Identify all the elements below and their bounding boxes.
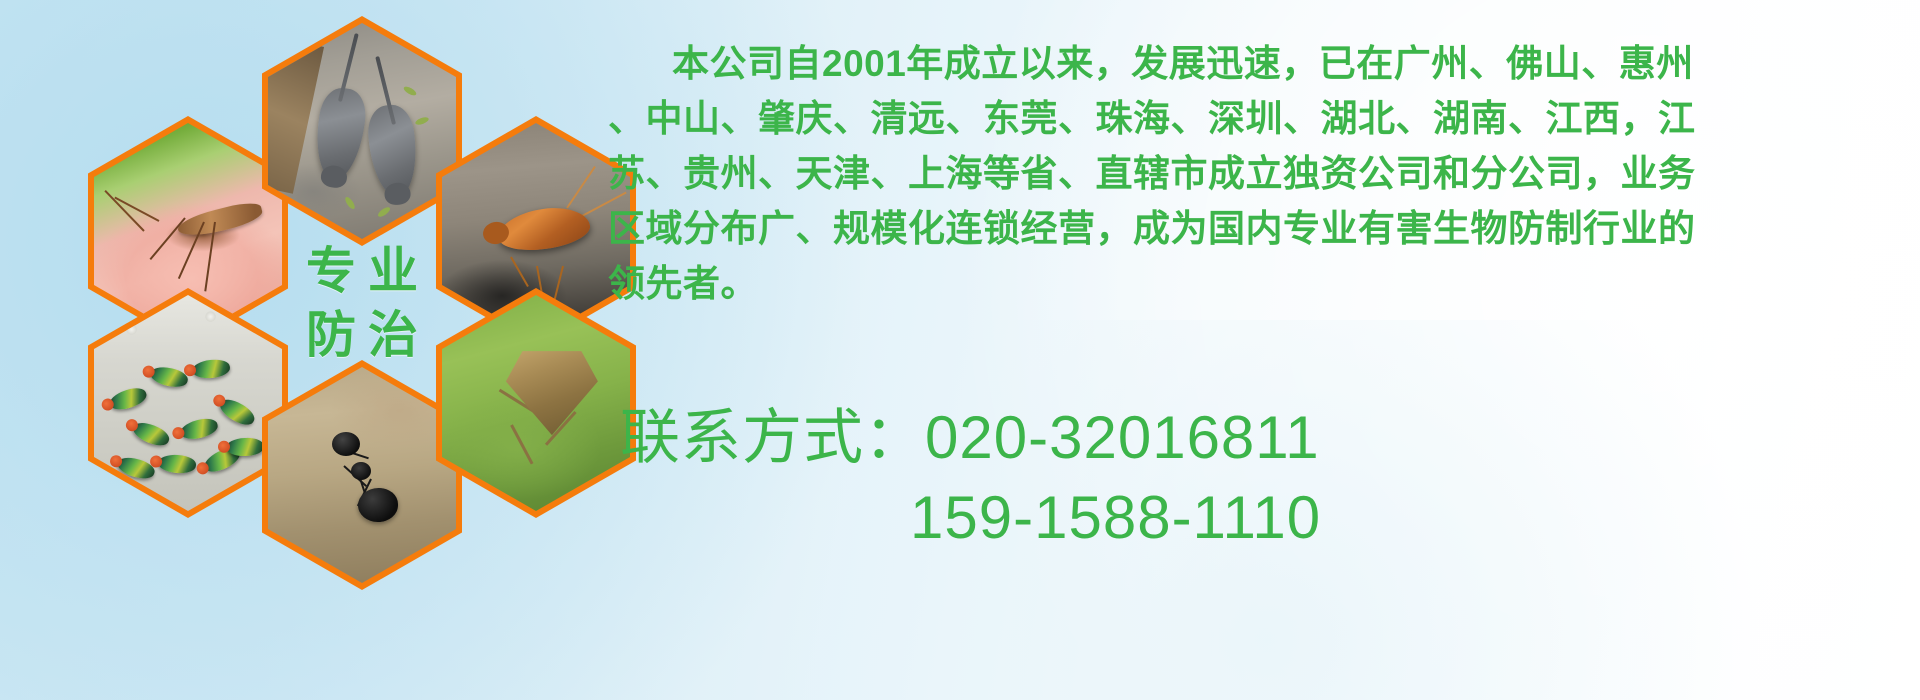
- ant-thorax-icon: [351, 462, 371, 480]
- fly-icon: [130, 418, 172, 449]
- contact-phone-secondary[interactable]: 159-1588-1110: [620, 478, 1920, 558]
- cockroach-leg-icon: [510, 256, 529, 286]
- fly-icon: [107, 385, 149, 414]
- hex-cell-flies[interactable]: [88, 288, 288, 518]
- copy-line-3: 苏、贵州、天津、上海等省、直辖市成立独资公司和分公司，业务: [608, 146, 1908, 201]
- copy-line-1: 本公司自2001年成立以来，发展迅速，已在广州、佛山、惠州: [608, 36, 1908, 91]
- fly-icon: [157, 454, 196, 475]
- copy-line-2: 、中山、肇庆、清远、东莞、珠海、深圳、湖北、湖南、江西，江: [608, 91, 1908, 146]
- fly-icon: [191, 358, 231, 380]
- stinkbug-body-icon: [506, 351, 598, 435]
- rat-icon: [311, 85, 369, 183]
- promo-banner: 专业 防治 本公司自2001年成立以来，发展迅速，已在广州、佛山、惠州 、中山、…: [0, 0, 1920, 700]
- hex-cell-stinkbug[interactable]: [436, 288, 636, 518]
- stinkbug-photo: [442, 295, 630, 511]
- slogan-line-2: 防治: [294, 303, 430, 367]
- mosquito-leg-icon: [150, 217, 186, 260]
- cockroach-body-icon: [496, 203, 593, 255]
- fly-icon: [179, 416, 220, 443]
- flies-photo: [94, 295, 282, 511]
- hexagon-photo-cluster: 专业 防治: [88, 0, 588, 560]
- fly-icon: [225, 437, 264, 456]
- rat-tail-icon: [375, 56, 396, 125]
- fly-icon: [216, 395, 258, 430]
- rat-tail-icon: [338, 33, 359, 102]
- mosquito-body-icon: [175, 199, 264, 241]
- contact-info: 联系方式：020-32016811 159-1588-1110: [620, 398, 1920, 558]
- leaf-icon: [403, 85, 418, 97]
- copy-line-4: 区域分布广、规模化连锁经营，成为国内专业有害生物防制行业的: [608, 201, 1908, 256]
- stinkbug-leg-icon: [510, 424, 533, 464]
- slogan-line-1: 专业: [294, 239, 430, 303]
- cockroach-leg-icon: [554, 265, 564, 298]
- company-description: 本公司自2001年成立以来，发展迅速，已在广州、佛山、惠州 、中山、肇庆、清远、…: [608, 36, 1908, 311]
- rat-head-icon: [319, 164, 348, 189]
- cockroach-antenna-icon: [566, 166, 596, 209]
- copy-line-5: 领先者。: [608, 256, 1908, 311]
- ant-abdomen-icon: [358, 488, 398, 522]
- wood-plank-icon: [268, 36, 324, 194]
- rat-icon: [365, 103, 420, 199]
- ant-head-icon: [332, 432, 360, 456]
- rat-head-icon: [383, 182, 411, 207]
- contact-phone-primary[interactable]: 联系方式：020-32016811: [620, 398, 1920, 478]
- leaf-icon: [414, 116, 429, 126]
- hex-cell-slogan: 专业 防治: [262, 188, 462, 418]
